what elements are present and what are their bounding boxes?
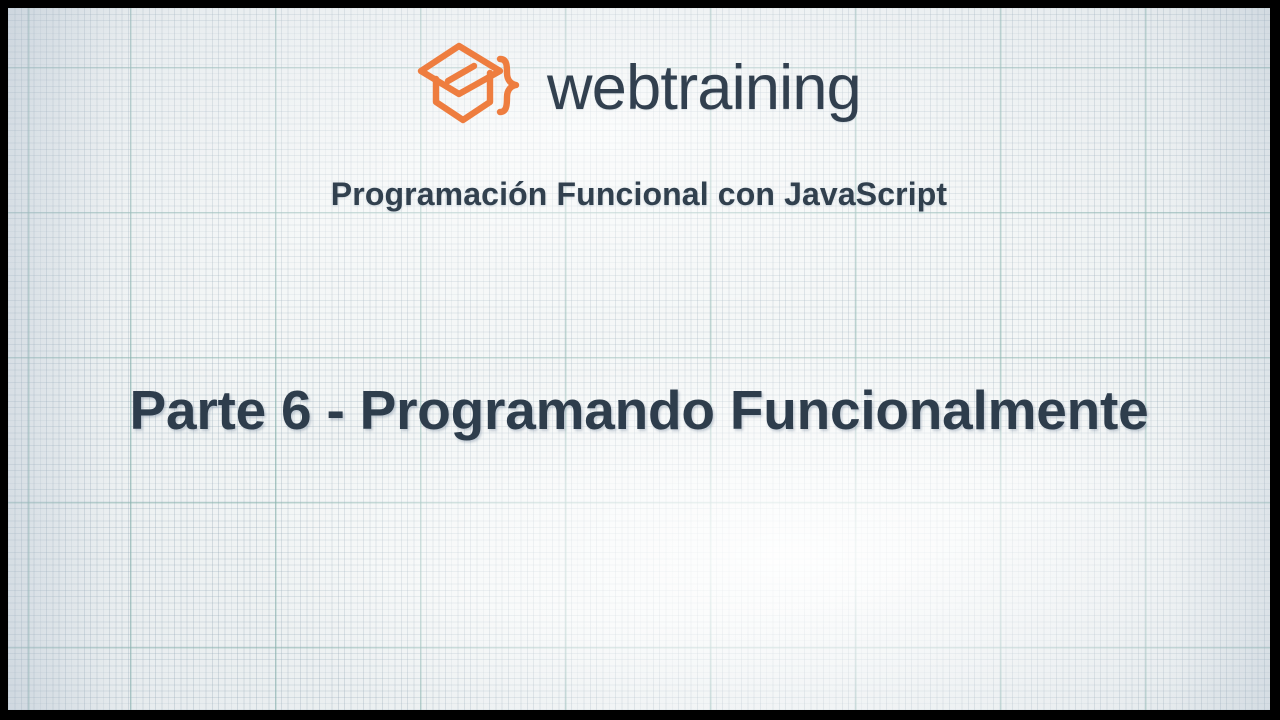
graduation-cap-brace-icon	[417, 40, 521, 136]
slide-canvas: webtraining Programación Funcional con J…	[8, 8, 1270, 710]
course-subtitle: Programación Funcional con JavaScript	[331, 176, 947, 213]
brand-lockup: webtraining	[417, 40, 861, 136]
brand-wordmark: webtraining	[547, 57, 861, 120]
video-frame: webtraining Programación Funcional con J…	[0, 0, 1280, 720]
slide-content: webtraining Programación Funcional con J…	[8, 8, 1270, 710]
part-title: Parte 6 - Programando Funcionalmente	[130, 378, 1149, 442]
